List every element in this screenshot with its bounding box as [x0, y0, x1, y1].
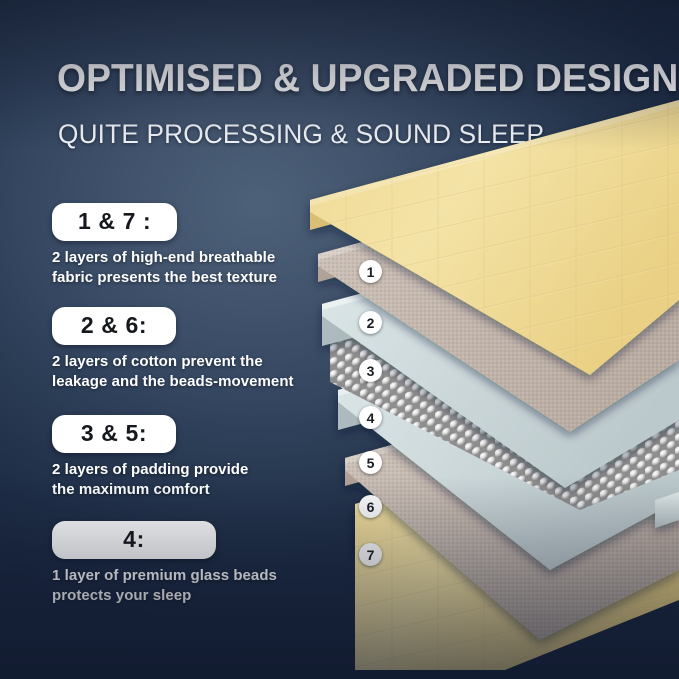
- layer-badge-4: 4: [359, 406, 382, 429]
- layer-badge-7: 7: [359, 543, 382, 566]
- layer-badge-1: 1: [359, 260, 382, 283]
- layer-label-pill: 4:: [52, 521, 216, 559]
- description-line: protects your sleep: [52, 586, 314, 606]
- layer-badge-5: 5: [359, 451, 382, 474]
- layer-badge-number: 2: [367, 316, 375, 330]
- layer-badge-2: 2: [359, 311, 382, 334]
- layer-label-text: 1 & 7 :: [78, 208, 151, 234]
- page-title: OPTIMISED & UPGRADED DESIGN: [57, 57, 611, 101]
- description-line: 1 layer of premium glass beads: [52, 566, 314, 586]
- layer-label-pill: 3 & 5:: [52, 415, 176, 453]
- info-block-4: 4: 1 layer of premium glass beads protec…: [52, 521, 314, 605]
- layer-description: 2 layers of cotton prevent the leakage a…: [52, 352, 314, 391]
- description-line: 2 layers of padding provide: [52, 460, 314, 480]
- layer-badge-number: 4: [367, 411, 375, 425]
- layer-label-text: 4:: [123, 526, 145, 552]
- layer-badge-number: 7: [367, 548, 375, 562]
- layer-label-text: 2 & 6:: [81, 312, 147, 338]
- layer-description: 2 layers of padding provide the maximum …: [52, 460, 314, 499]
- layer-description: 2 layers of high-end breathable fabric p…: [52, 248, 314, 287]
- layer-badge-number: 5: [367, 456, 375, 470]
- description-line: the maximum comfort: [52, 480, 314, 500]
- info-block-1-7: 1 & 7 : 2 layers of high-end breathable …: [52, 203, 314, 287]
- layer-description: 1 layer of premium glass beads protects …: [52, 566, 314, 605]
- layer-badge-6: 6: [359, 495, 382, 518]
- description-line: leakage and the beads-movement: [52, 372, 314, 392]
- layer-badge-number: 3: [367, 364, 375, 378]
- description-line: 2 layers of high-end breathable: [52, 248, 314, 268]
- layer-label-pill: 1 & 7 :: [52, 203, 177, 241]
- exploded-layer-stack-diagram: [300, 170, 679, 670]
- layer-label-pill: 2 & 6:: [52, 307, 176, 345]
- product-infographic-poster: OPTIMISED & UPGRADED DESIGN QUITE PROCES…: [0, 0, 679, 679]
- description-line: fabric presents the best texture: [52, 268, 314, 288]
- layer-badge-number: 6: [367, 500, 375, 514]
- layer-label-text: 3 & 5:: [81, 420, 147, 446]
- info-block-3-5: 3 & 5: 2 layers of padding provide the m…: [52, 415, 314, 499]
- layer-badge-number: 1: [367, 265, 375, 279]
- description-line: 2 layers of cotton prevent the: [52, 352, 314, 372]
- layer-badge-3: 3: [359, 359, 382, 382]
- info-block-2-6: 2 & 6: 2 layers of cotton prevent the le…: [52, 307, 314, 391]
